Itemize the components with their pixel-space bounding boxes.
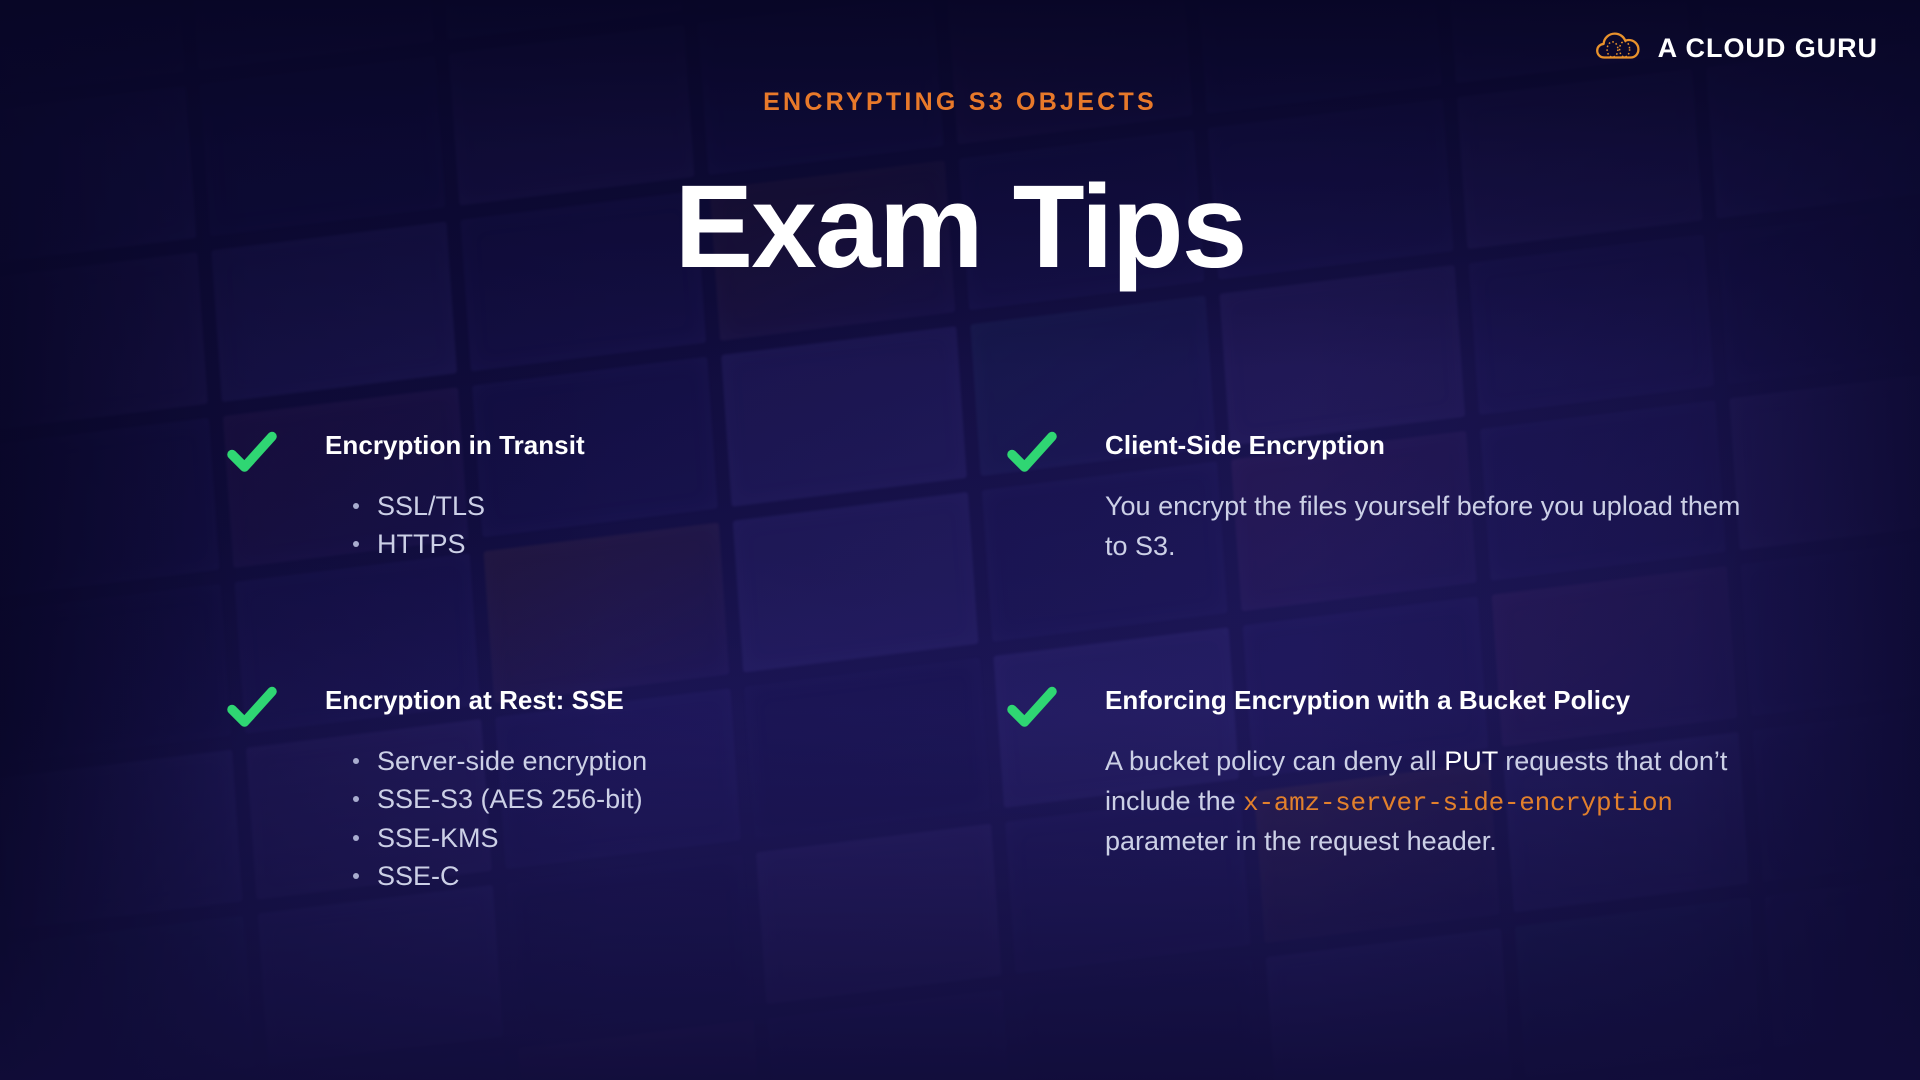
cloud-icon bbox=[1596, 30, 1642, 67]
tip-bullet-list: Server-side encryption SSE-S3 (AES 256-b… bbox=[325, 742, 1005, 895]
list-item: SSE-S3 (AES 256-bit) bbox=[351, 780, 1005, 818]
a-cloud-guru-logo[interactable]: A CLOUD GURU bbox=[1596, 30, 1878, 67]
tips-grid: Encryption in Transit SSL/TLS HTTPS Clie… bbox=[0, 430, 1920, 895]
paragraph-part-1: A bucket policy can deny all bbox=[1105, 746, 1444, 776]
tip-body: Encryption in Transit SSL/TLS HTTPS bbox=[325, 430, 1005, 564]
tip-heading: Encryption in Transit bbox=[325, 430, 1005, 461]
tip-block-enforcing-encryption-bucket-policy: Enforcing Encryption with a Bucket Polic… bbox=[1005, 685, 1920, 895]
tip-body: Encryption at Rest: SSE Server-side encr… bbox=[325, 685, 1005, 895]
paragraph-part-3: parameter in the request header. bbox=[1105, 826, 1497, 856]
list-item: SSL/TLS bbox=[351, 487, 1005, 525]
slide-canvas: A CLOUD GURU ENCRYPTING S3 OBJECTS Exam … bbox=[0, 0, 1920, 1080]
paragraph-emphasis-put: PUT bbox=[1444, 746, 1498, 776]
tip-block-encryption-at-rest-sse: Encryption at Rest: SSE Server-side encr… bbox=[225, 685, 1005, 895]
list-item: SSE-KMS bbox=[351, 819, 1005, 857]
tip-heading: Enforcing Encryption with a Bucket Polic… bbox=[1105, 685, 1750, 716]
tip-bullet-list: SSL/TLS HTTPS bbox=[325, 487, 1005, 564]
tip-paragraph: A bucket policy can deny all PUT request… bbox=[1105, 742, 1745, 862]
list-item: Server-side encryption bbox=[351, 742, 1005, 780]
logo-text: A CLOUD GURU bbox=[1658, 33, 1878, 64]
check-icon bbox=[1005, 424, 1059, 478]
list-item: HTTPS bbox=[351, 525, 1005, 563]
tip-heading: Encryption at Rest: SSE bbox=[325, 685, 1005, 716]
tip-block-encryption-in-transit: Encryption in Transit SSL/TLS HTTPS bbox=[225, 430, 1005, 567]
check-icon bbox=[225, 679, 279, 733]
tip-body: Client-Side Encryption You encrypt the f… bbox=[1105, 430, 1750, 567]
list-item: SSE-C bbox=[351, 857, 1005, 895]
tip-block-client-side-encryption: Client-Side Encryption You encrypt the f… bbox=[1005, 430, 1920, 567]
tip-heading: Client-Side Encryption bbox=[1105, 430, 1750, 461]
check-icon bbox=[1005, 679, 1059, 733]
check-icon bbox=[225, 424, 279, 478]
page-title: Exam Tips bbox=[0, 166, 1920, 290]
tip-paragraph: You encrypt the files yourself before yo… bbox=[1105, 487, 1745, 567]
paragraph-code-header-name: x-amz-server-side-encryption bbox=[1243, 788, 1673, 818]
tip-body: Enforcing Encryption with a Bucket Polic… bbox=[1105, 685, 1750, 862]
section-eyebrow: ENCRYPTING S3 OBJECTS bbox=[0, 88, 1920, 117]
